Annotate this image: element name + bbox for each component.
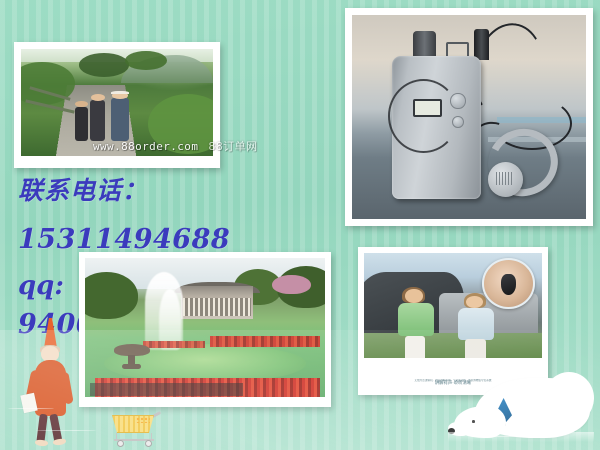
poster-canvas: www.88order.com 88订单网 [0, 0, 600, 450]
water-ripple [470, 436, 540, 437]
stone-urn [114, 344, 150, 369]
garden-photo-image [85, 258, 325, 397]
orange-walking-figure-icon [22, 318, 78, 446]
device-headphone-jack [474, 29, 489, 60]
photo-audio-guide-receiver[interactable] [345, 8, 593, 226]
yellow-shopping-cart-icon [108, 415, 162, 448]
listener-person-right [457, 296, 496, 366]
listener-person-left [396, 291, 435, 366]
water-ripple [36, 430, 96, 431]
earpiece-closeup-inset [482, 258, 535, 309]
contact-phone-number: 15311494688 [18, 224, 318, 255]
receiver-body [392, 56, 481, 199]
photo-fountain-garden[interactable] [79, 252, 331, 407]
contact-phone-label: 联系电话： [18, 176, 318, 206]
garden-photo-caption [90, 383, 244, 396]
water-ripple [8, 408, 54, 409]
site-watermark: www.88order.com 88订单网 [93, 138, 257, 154]
women-photo-image: 无线导览讲解机 · 团队讲解专用 · 一对多同传 · 景区博物馆导览系统 讲解有… [364, 253, 542, 387]
white-polar-bear-icon [448, 372, 594, 450]
device-button-upper [450, 93, 465, 109]
watermark-site-name: 88订单网 [208, 140, 257, 153]
watermark-url: www.88order.com [93, 140, 198, 153]
earbud-icon [488, 162, 523, 197]
device-button-lower [452, 116, 464, 128]
device-lcd-screen [413, 99, 441, 118]
device-photo-image [352, 15, 586, 219]
